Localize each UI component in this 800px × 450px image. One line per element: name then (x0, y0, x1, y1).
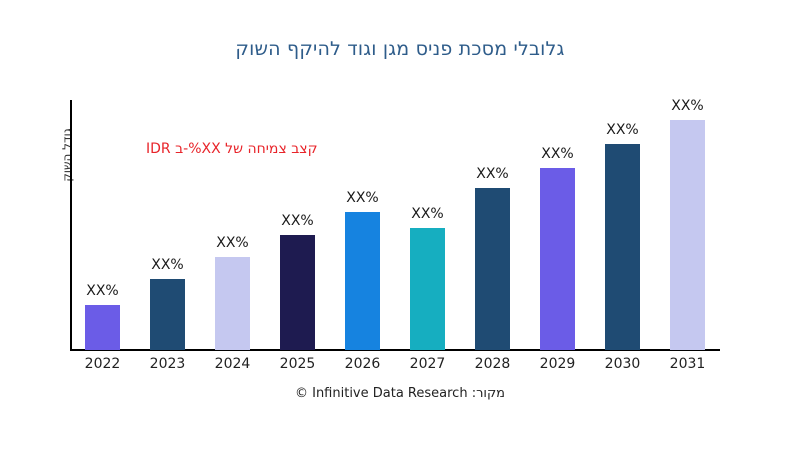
bar-group: XX% (265, 100, 330, 350)
bar-group: XX% (135, 100, 200, 350)
x-tick-label: 2023 (135, 356, 200, 372)
bar-value-label: XX% (525, 146, 590, 162)
bar-value-label: XX% (655, 98, 720, 114)
bar-group: XX% (525, 100, 590, 350)
chart-title: גלובלי מסכת פניס מגן וגוד להיקף השוק (0, 38, 800, 60)
bar-value-label: XX% (135, 257, 200, 273)
bar[interactable] (215, 257, 250, 350)
x-tick-label: 2029 (525, 356, 590, 372)
bar-value-label: XX% (330, 190, 395, 206)
x-tick-label: 2030 (590, 356, 655, 372)
x-tick-label: 2022 (70, 356, 135, 372)
bar[interactable] (410, 228, 445, 350)
bar-value-label: XX% (70, 283, 135, 299)
x-tick-label: 2024 (200, 356, 265, 372)
bar[interactable] (345, 212, 380, 350)
x-tick-label: 2027 (395, 356, 460, 372)
bar[interactable] (540, 168, 575, 350)
bar-value-label: XX% (590, 122, 655, 138)
bar[interactable] (150, 279, 185, 350)
bar[interactable] (85, 305, 120, 350)
bar-group: XX% (330, 100, 395, 350)
bar-chart: גלובלי מסכת פניס מגן וגוד להיקף השוק קצב… (0, 0, 800, 450)
bar-value-label: XX% (460, 166, 525, 182)
bar-group: XX% (590, 100, 655, 350)
bar-value-label: XX% (265, 213, 330, 229)
bar-group: XX% (395, 100, 460, 350)
bar-group: XX% (200, 100, 265, 350)
bar-group: XX% (655, 100, 720, 350)
bar[interactable] (605, 144, 640, 350)
x-tick-label: 2026 (330, 356, 395, 372)
x-tick-label: 2028 (460, 356, 525, 372)
bar[interactable] (670, 120, 705, 350)
x-tick-label: 2031 (655, 356, 720, 372)
chart-source-note: מקור: Infinitive Data Research © (0, 386, 800, 401)
x-tick-label: 2025 (265, 356, 330, 372)
bar-group: XX% (460, 100, 525, 350)
bar-group: XX% (70, 100, 135, 350)
bar-value-label: XX% (395, 206, 460, 222)
plot-area: XX%XX%XX%XX%XX%XX%XX%XX%XX%XX% (70, 100, 720, 350)
bar[interactable] (280, 235, 315, 350)
bar[interactable] (475, 188, 510, 350)
bar-value-label: XX% (200, 235, 265, 251)
